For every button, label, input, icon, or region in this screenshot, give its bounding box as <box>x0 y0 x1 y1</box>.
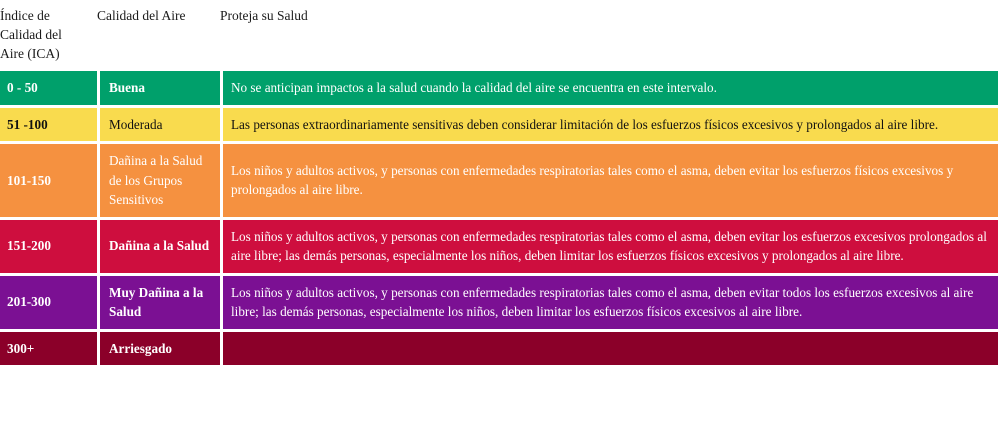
cell-air-quality: Dañina a la Salud <box>97 217 220 273</box>
cell-protect-health: No se anticipan impactos a la salud cuan… <box>220 71 998 105</box>
column-header-air-quality: Calidad del Aire <box>97 0 220 71</box>
column-header-ica-line3: Aire (ICA) <box>0 44 97 63</box>
empty-value <box>231 339 988 359</box>
column-header-ica-line1: Índice de <box>0 6 97 25</box>
column-header-protect-health: Proteja su Salud <box>220 0 998 71</box>
table-row: 51 -100ModeradaLas personas extraordinar… <box>0 105 998 142</box>
cell-protect-health: Los niños y adultos activos, y personas … <box>220 141 998 217</box>
cell-air-quality: Buena <box>97 71 220 105</box>
cell-protect-health: Las personas extraordinariamente sensiti… <box>220 105 998 142</box>
table-row: 151-200Dañina a la SaludLos niños y adul… <box>0 217 998 273</box>
table-row: 300+Arriesgado <box>0 329 998 366</box>
column-header-ica-line2: Calidad del <box>0 25 97 44</box>
cell-ica-range: 300+ <box>0 329 97 366</box>
cell-protect-health: Los niños y adultos activos, y personas … <box>220 273 998 329</box>
cell-air-quality: Muy Dañina a la Salud <box>97 273 220 329</box>
cell-ica-range: 101-150 <box>0 141 97 217</box>
cell-ica-range: 201-300 <box>0 273 97 329</box>
cell-ica-range: 51 -100 <box>0 105 97 142</box>
table-row: 101-150Dañina a la Salud de los Grupos S… <box>0 141 998 217</box>
table-header-row: Índice de Calidad del Aire (ICA) Calidad… <box>0 0 998 71</box>
cell-protect-health <box>220 329 998 366</box>
column-header-ica: Índice de Calidad del Aire (ICA) <box>0 0 97 71</box>
column-header-air-quality-label: Calidad del Aire <box>97 6 220 25</box>
column-header-protect-health-label: Proteja su Salud <box>220 6 998 25</box>
cell-protect-health: Los niños y adultos activos, y personas … <box>220 217 998 273</box>
cell-ica-range: 0 - 50 <box>0 71 97 105</box>
table-row: 0 - 50BuenaNo se anticipan impactos a la… <box>0 71 998 105</box>
cell-air-quality: Arriesgado <box>97 329 220 366</box>
table-row: 201-300Muy Dañina a la SaludLos niños y … <box>0 273 998 329</box>
table-body: 0 - 50BuenaNo se anticipan impactos a la… <box>0 71 998 365</box>
cell-air-quality: Moderada <box>97 105 220 142</box>
cell-air-quality: Dañina a la Salud de los Grupos Sensitiv… <box>97 141 220 217</box>
cell-ica-range: 151-200 <box>0 217 97 273</box>
air-quality-index-table: Índice de Calidad del Aire (ICA) Calidad… <box>0 0 998 365</box>
